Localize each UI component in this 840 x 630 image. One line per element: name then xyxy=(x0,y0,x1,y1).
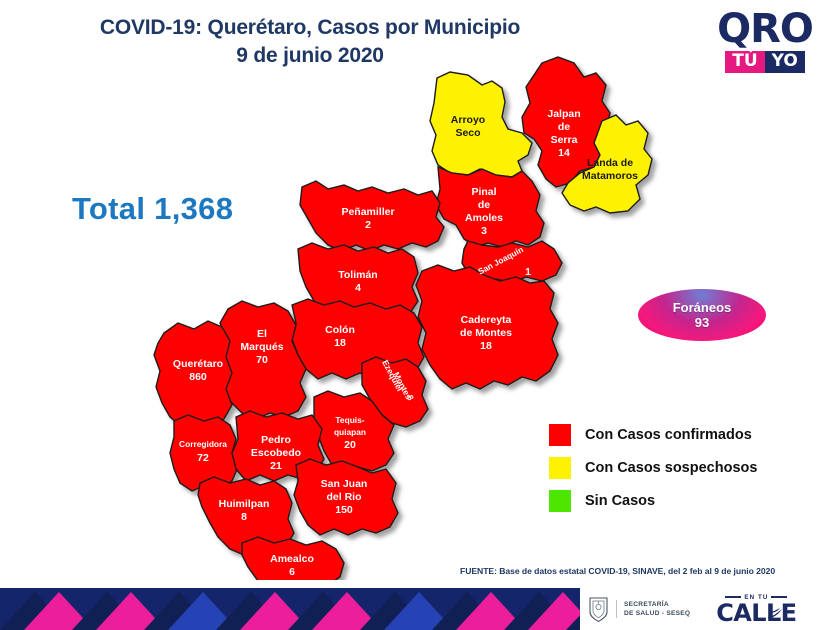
value-colon: 18 xyxy=(334,337,346,349)
label-huimilpan: Huimilpan xyxy=(219,498,270,510)
value-corregidora: 72 xyxy=(197,452,209,464)
value-tequisquiapan: 20 xyxy=(344,439,356,451)
label-colon: Colón xyxy=(325,324,355,336)
calle-main-text: CALLE xyxy=(716,599,796,627)
legend-item-suspected: Con Casos sospechosos xyxy=(549,457,789,479)
seseq-text: SECRETARÍA DE SALUD - SESEQ xyxy=(616,600,690,618)
label-jalpan-2: de xyxy=(558,121,570,133)
legend-swatch-confirmed xyxy=(549,424,571,446)
label-tequisquiapan-2: quiapan xyxy=(334,427,366,437)
label-toliman: Tolimán xyxy=(338,269,377,281)
value-jalpan: 14 xyxy=(558,147,570,159)
seseq-logo: SECRETARÍA DE SALUD - SESEQ xyxy=(588,596,690,623)
en-tu-calle-logo: EN TU CALLE xyxy=(716,594,796,625)
label-jalpan-3: Serra xyxy=(551,134,578,146)
seseq-line-1: SECRETARÍA xyxy=(624,600,690,609)
label-landa-2: Matamoros xyxy=(582,170,638,182)
label-amealco: Amealco xyxy=(270,553,314,565)
label-arroyo-seco-2: Seco xyxy=(455,127,480,139)
footer-logos: SECRETARÍA DE SALUD - SESEQ EN TU CALLE xyxy=(580,588,840,630)
label-arroyo-seco: Arroyo xyxy=(451,114,485,126)
queretaro-crest-icon xyxy=(588,596,609,623)
foraneos-value: 93 xyxy=(695,315,709,330)
map-legend: Con Casos confirmados Con Casos sospecho… xyxy=(549,424,789,523)
value-toliman: 4 xyxy=(355,282,361,294)
label-tequisquiapan: Tequis- xyxy=(335,415,364,425)
label-penamiller: Peñamiller xyxy=(341,206,394,218)
legend-swatch-suspected xyxy=(549,457,571,479)
qro-yo-chip: YO xyxy=(765,51,805,73)
label-pinal-2: de xyxy=(478,199,490,211)
legend-label-suspected: Con Casos sospechosos xyxy=(585,460,757,476)
value-el-marques: 70 xyxy=(256,354,268,366)
value-queretaro: 860 xyxy=(189,371,207,383)
label-landa: Landa de xyxy=(587,157,633,169)
qro-wordmark: QRO xyxy=(704,8,826,50)
value-amealco: 6 xyxy=(289,566,295,578)
label-pedro-escobedo-2: Escobedo xyxy=(251,447,301,459)
value-san-joaquin: 1 xyxy=(525,266,531,278)
value-san-juan-del-rio: 150 xyxy=(335,504,353,516)
swoosh-icon xyxy=(767,608,783,619)
label-corregidora: Corregidora xyxy=(179,439,227,449)
value-huimilpan: 8 xyxy=(241,511,247,523)
label-cadereyta-2: de Montes xyxy=(460,327,512,339)
label-jalpan: Jalpan xyxy=(547,108,580,120)
label-el-marques: El xyxy=(257,328,267,340)
label-san-juan-del-rio: San Juan xyxy=(321,478,368,490)
label-pinal: Pinal xyxy=(471,186,496,198)
legend-swatch-none xyxy=(549,490,571,512)
calle-wordmark: CALLE xyxy=(716,601,796,625)
legend-label-confirmed: Con Casos confirmados xyxy=(585,427,752,443)
source-note: FUENTE: Base de datos estatal COVID-19, … xyxy=(460,566,835,576)
label-el-marques-2: Marqués xyxy=(240,341,283,353)
value-penamiller: 2 xyxy=(365,219,371,231)
seseq-line-2: DE SALUD - SESEQ xyxy=(624,609,690,618)
footer-chevron-pattern xyxy=(0,588,600,630)
title-line-1: COVID-19: Querétaro, Casos por Municipio xyxy=(60,14,560,42)
label-san-juan-del-rio-2: del Rio xyxy=(326,491,361,503)
legend-item-none: Sin Casos xyxy=(549,490,789,512)
label-cadereyta: Cadereyta xyxy=(461,314,512,326)
qro-logo: QRO TÚ YO xyxy=(704,8,826,80)
value-cadereyta: 18 xyxy=(480,340,492,352)
label-pinal-3: Amoles xyxy=(465,212,503,224)
legend-label-none: Sin Casos xyxy=(585,493,655,509)
label-queretaro: Querétaro xyxy=(173,358,223,370)
value-pedro-escobedo: 21 xyxy=(270,460,282,472)
legend-item-confirmed: Con Casos confirmados xyxy=(549,424,789,446)
qro-tagline: TÚ YO xyxy=(704,51,826,73)
label-pedro-escobedo: Pedro xyxy=(261,434,291,446)
value-pinal: 3 xyxy=(481,225,487,237)
page-footer: SECRETARÍA DE SALUD - SESEQ EN TU CALLE xyxy=(0,588,840,630)
qro-tu-chip: TÚ xyxy=(725,51,764,73)
